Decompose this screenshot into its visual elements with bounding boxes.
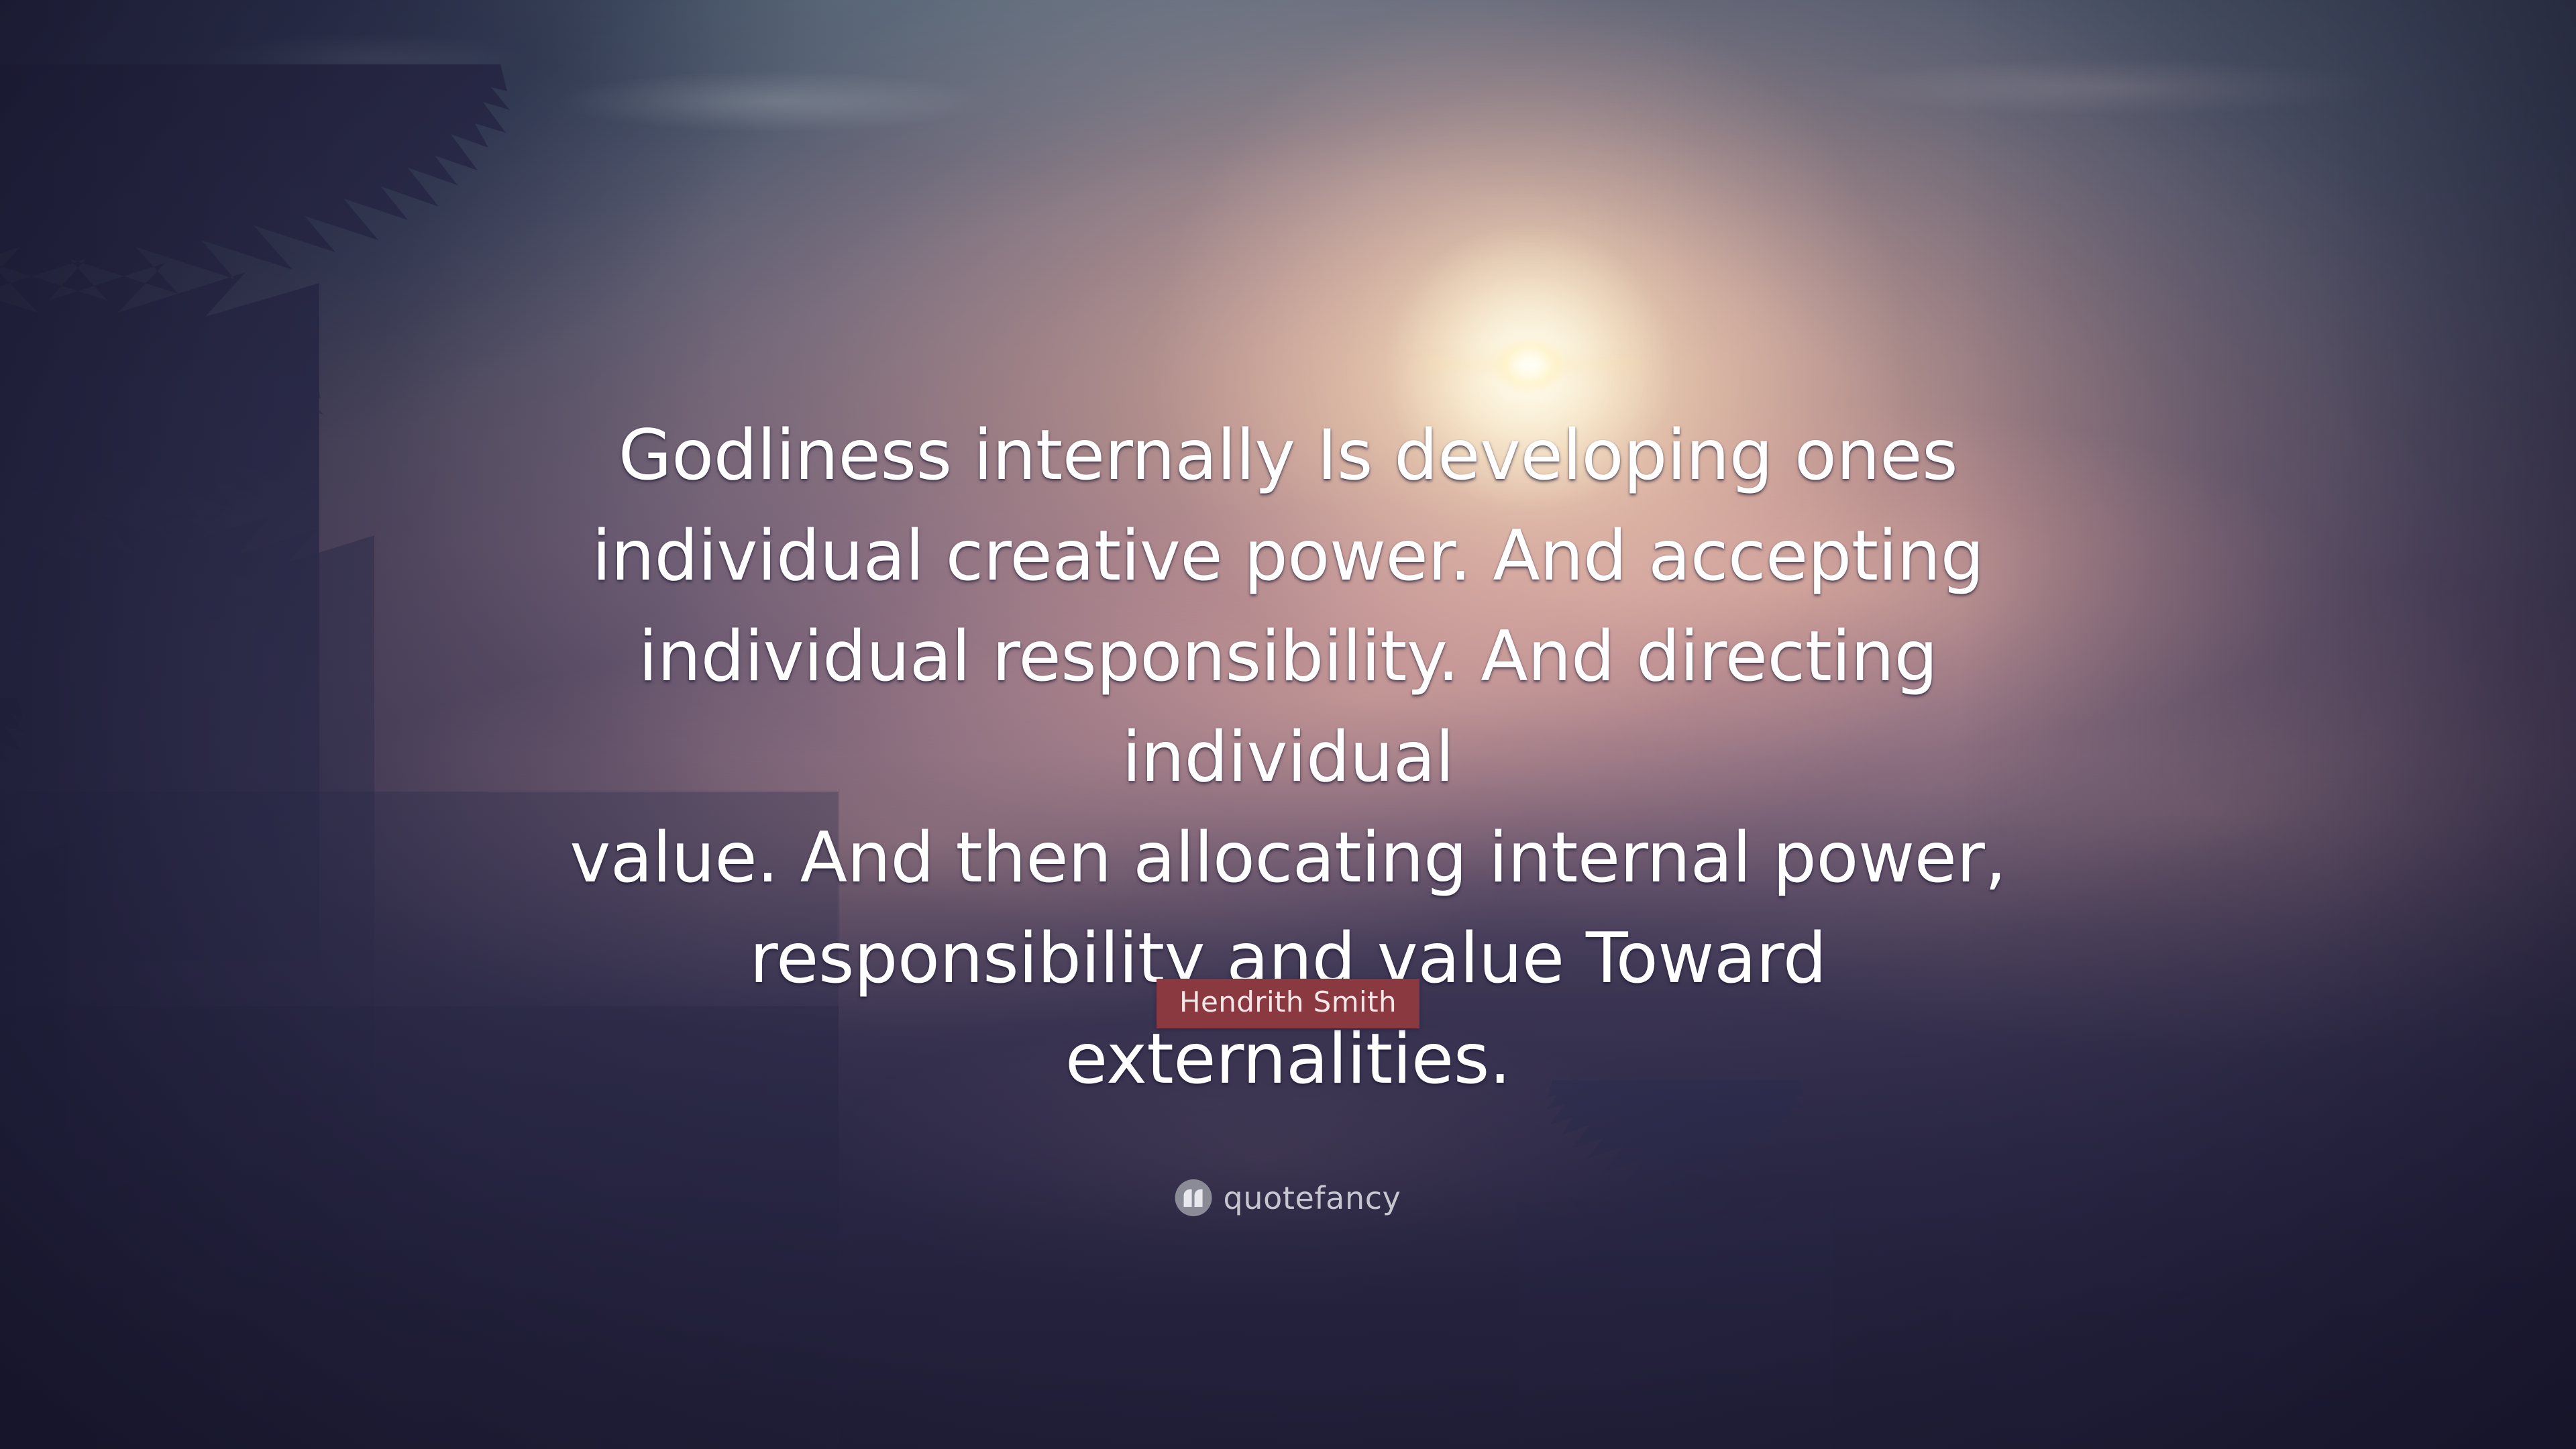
quote-line-1: Godliness internally Is developing ones: [517, 405, 2059, 506]
quote-line-3: individual responsibility. And directing…: [517, 606, 2059, 808]
quote-line-4: value. And then allocating internal powe…: [517, 808, 2059, 908]
quote-poster: Godliness internally Is developing ones …: [0, 0, 2576, 1449]
quotation-mark-icon: [1175, 1179, 1212, 1216]
poster-content: Godliness internally Is developing ones …: [0, 0, 2576, 1449]
quote-line-2: individual creative power. And accepting: [517, 506, 2059, 606]
quotefancy-logo[interactable]: quotefancy: [1175, 1179, 1401, 1216]
quotefancy-wordmark: quotefancy: [1224, 1183, 1401, 1214]
author-badge[interactable]: Hendrith Smith: [1157, 979, 1419, 1028]
